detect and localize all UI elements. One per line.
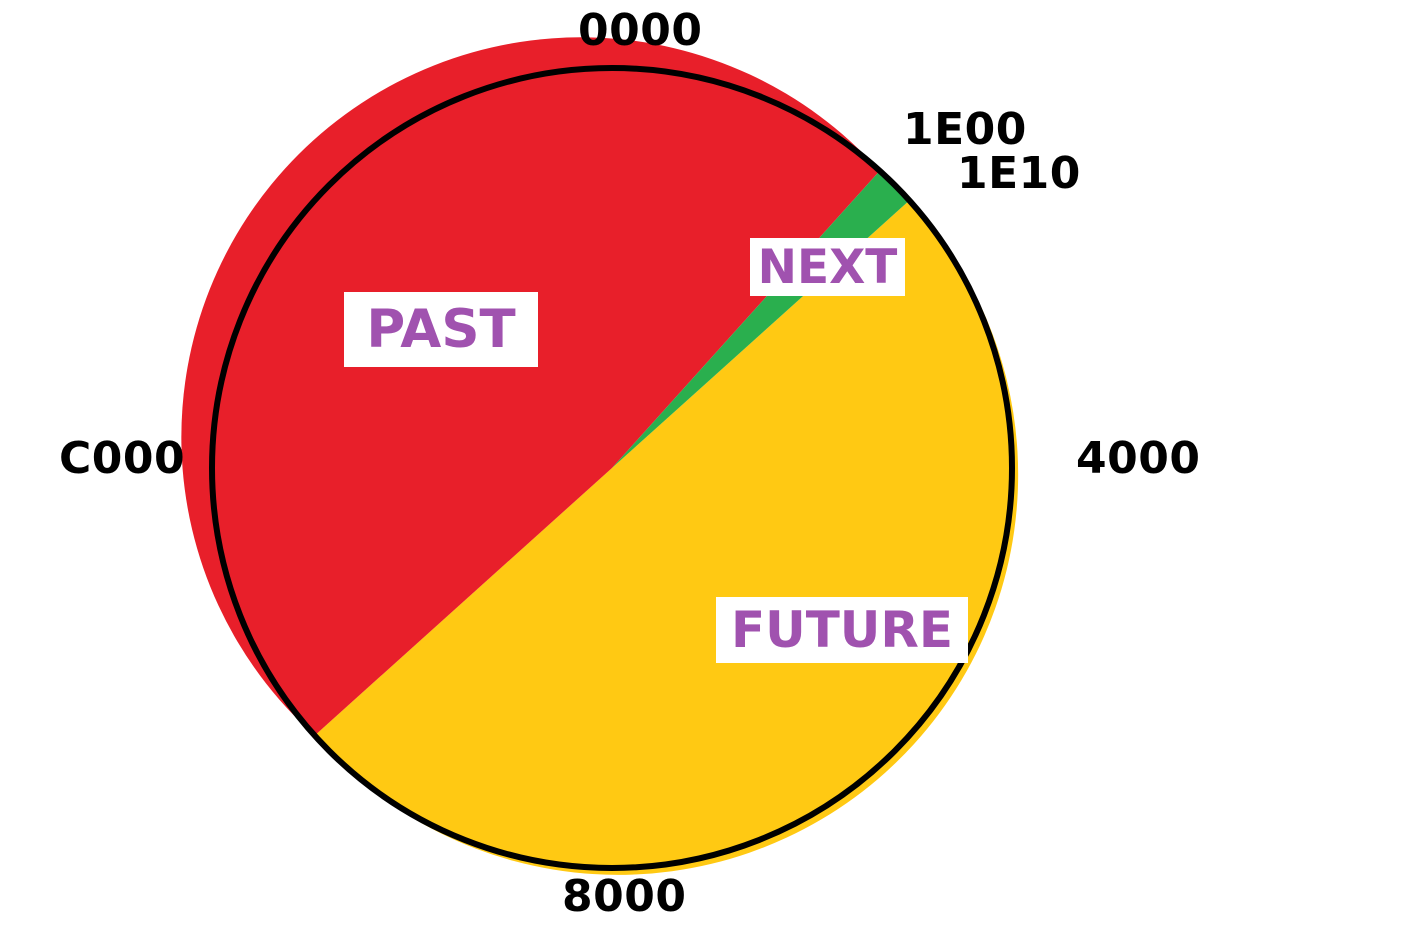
hex-label-C000: C000 [59,437,185,481]
hex-label-1E00: 1E00 [903,108,1027,152]
hex-label-0000: 0000 [578,9,702,53]
sector-label-past: PAST [344,292,538,367]
sector-label-next: NEXT [750,238,905,296]
wheel-diagram-stage: 0000 1E00 1E10 4000 8000 C000 PAST NEXT … [0,0,1404,949]
hex-label-8000: 8000 [562,875,686,919]
hex-label-4000: 4000 [1076,437,1200,481]
sector-label-future: FUTURE [716,597,968,663]
hex-label-1E10: 1E10 [957,152,1081,196]
